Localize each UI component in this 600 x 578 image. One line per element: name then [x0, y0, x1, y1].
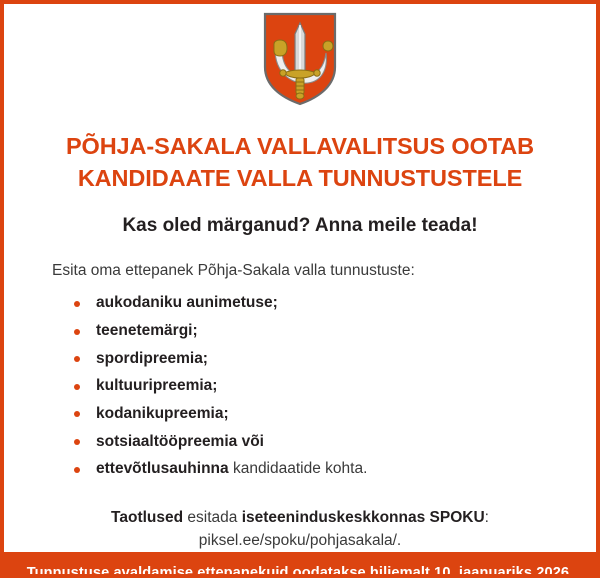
poster: PÕHJA-SAKALA VALLAVALITSUS OOTAB KANDIDA… — [0, 0, 600, 578]
bullet-icon — [74, 411, 80, 417]
list-item-label: ettevõtlusauhinna — [96, 460, 229, 477]
list-item: aukodaniku aunimetuse; — [74, 290, 556, 318]
list-item: ettevõtlusauhinna kandidaatide kohta. — [74, 456, 556, 484]
list-item-label: spordipreemia; — [96, 350, 208, 367]
list-item: spordipreemia; — [74, 345, 556, 373]
intro-text: Esita oma ettepanek Põhja-Sakala valla t… — [52, 261, 556, 281]
page-title-line-1: PÕHJA-SAKALA VALLAVALITSUS OOTAB — [4, 130, 596, 162]
apply-strong-applications: Taotlused — [111, 509, 183, 526]
coat-of-arms-icon — [262, 11, 338, 107]
bullet-icon — [74, 384, 80, 390]
apply-strong-portal: iseteeninduskeskkonnas SPOKU — [242, 509, 485, 526]
bullet-icon — [74, 329, 80, 335]
list-item-suffix: kandidaatide kohta. — [229, 460, 368, 477]
list-item-label: kultuuripreemia; — [96, 377, 217, 394]
list-item-label: aukodaniku aunimetuse; — [96, 294, 278, 311]
list-item: teenetemärgi; — [74, 318, 556, 346]
list-item: kultuuripreemia; — [74, 373, 556, 401]
apply-mid-text: esitada — [183, 509, 242, 526]
bullet-icon — [74, 301, 80, 307]
bullet-icon — [74, 439, 80, 445]
award-list: aukodaniku aunimetuse; teenetemärgi; spo… — [52, 290, 556, 483]
list-item-label: sotsiaaltööpreemia või — [96, 433, 264, 450]
list-item: kodanikupreemia; — [74, 400, 556, 428]
list-item: sotsiaaltööpreemia või — [74, 428, 556, 456]
bullet-icon — [74, 467, 80, 473]
list-item-label: kodanikupreemia; — [96, 405, 229, 422]
deadline-banner-text: Tunnustuse avaldamise ettepanekuid oodat… — [27, 565, 574, 578]
apply-info: Taotlused esitada iseteeninduskeskkonnas… — [4, 507, 596, 552]
apply-tail-text: : — [485, 509, 489, 526]
subtitle: Kas oled märganud? Anna meile teada! — [4, 215, 596, 237]
bullet-icon — [74, 356, 80, 362]
apply-url[interactable]: piksel.ee/spoku/pohjasakala/. — [44, 530, 556, 552]
apply-instruction: Taotlused esitada iseteeninduskeskkonnas… — [44, 507, 556, 529]
list-item-label: teenetemärgi; — [96, 322, 198, 339]
body-block: Esita oma ettepanek Põhja-Sakala valla t… — [4, 261, 596, 483]
poster-content: PÕHJA-SAKALA VALLAVALITSUS OOTAB KANDIDA… — [4, 4, 596, 552]
page-title: PÕHJA-SAKALA VALLAVALITSUS OOTAB KANDIDA… — [4, 130, 596, 195]
deadline-banner: Tunnustuse avaldamise ettepanekuid oodat… — [4, 552, 596, 578]
page-title-line-2: KANDIDAATE VALLA TUNNUSTUSTELE — [4, 162, 596, 194]
